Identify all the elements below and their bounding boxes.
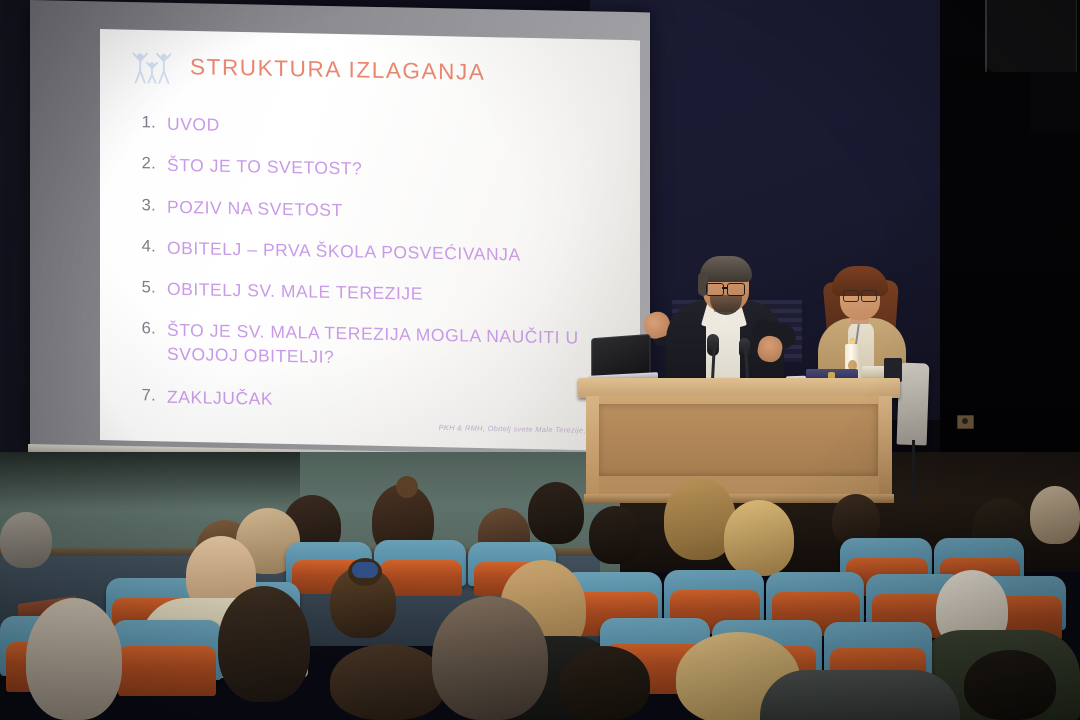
presenter-male-glasses-bridge (722, 287, 728, 289)
audience-head (396, 476, 418, 498)
list-item: 3. POZIV NA SVETOST (126, 195, 626, 228)
presenter-female-hair-top (832, 266, 888, 296)
presentation-photo-scene: STRUKTURA IZLAGANJA 1. UVOD 2. ŠTO JE TO… (0, 0, 1080, 720)
presenter-table-panel (598, 404, 878, 476)
audience-head (352, 562, 378, 578)
list-item-number: 2. (126, 153, 156, 174)
ceiling-speaker-icon (985, 0, 1077, 72)
list-item: 2. ŠTO JE TO SVETOST? (126, 153, 626, 186)
auditorium-seat-wood (118, 646, 216, 696)
audience-head (724, 500, 794, 576)
list-item-number: 6. (126, 318, 156, 339)
list-item-number: 7. (126, 385, 156, 406)
audience-area (0, 470, 1080, 720)
presenter-male-glasses-right (727, 283, 745, 296)
audience-head (589, 506, 641, 564)
wall-socket-plate (957, 415, 974, 429)
list-item-label: UVOD (167, 113, 220, 137)
list-item-label: ŠTO JE SV. MALA TEREZIJA MOGLA NAUČITI U… (167, 319, 626, 374)
list-item: 6. ŠTO JE SV. MALA TEREZIJA MOGLA NAUČIT… (126, 318, 626, 374)
audience-head (964, 650, 1056, 720)
list-item-number: 5. (126, 277, 156, 298)
ceiling-speaker-shadow (1030, 72, 1080, 134)
audience-head (330, 644, 446, 720)
audience-head (560, 646, 650, 720)
audience-shoulders (760, 670, 960, 720)
list-item: 4. OBITELJ – PRVA ŠKOLA POSVEĆIVANJA (126, 236, 626, 269)
list-item-label: POZIV NA SVETOST (167, 195, 343, 222)
audience-head (218, 586, 310, 702)
audience-head (1030, 486, 1080, 544)
family-group-icon (130, 46, 174, 87)
list-item-label: OBITELJ – PRVA ŠKOLA POSVEĆIVANJA (167, 237, 521, 267)
list-item-number: 4. (126, 236, 156, 257)
list-item-label: ŠTO JE TO SVETOST? (167, 154, 362, 181)
projected-slide: STRUKTURA IZLAGANJA 1. UVOD 2. ŠTO JE TO… (100, 29, 640, 451)
slide-agenda-list: 1. UVOD 2. ŠTO JE TO SVETOST? 3. POZIV N… (126, 112, 626, 436)
list-item-label: OBITELJ SV. MALE TEREZIJE (167, 278, 423, 306)
slide-header: STRUKTURA IZLAGANJA (130, 46, 485, 93)
list-item-number: 1. (126, 112, 156, 133)
list-item: 1. UVOD (126, 112, 626, 145)
presenter-table-top (578, 378, 900, 398)
list-item-number: 3. (126, 195, 156, 216)
audience-head (26, 598, 122, 720)
audience-head (528, 482, 584, 544)
audience-head (432, 596, 548, 720)
presenter-male-glasses-left (706, 283, 724, 296)
list-item: 5. OBITELJ SV. MALE TEREZIJE (126, 277, 626, 310)
slide-title: STRUKTURA IZLAGANJA (190, 54, 485, 86)
presenter-female-glasses-left (843, 290, 859, 302)
list-item-label: ZAKLJUČAK (167, 386, 273, 411)
audience-head (0, 512, 52, 568)
list-item: 7. ZAKLJUČAK (126, 385, 626, 418)
presenter-female-glasses-right (861, 290, 877, 302)
